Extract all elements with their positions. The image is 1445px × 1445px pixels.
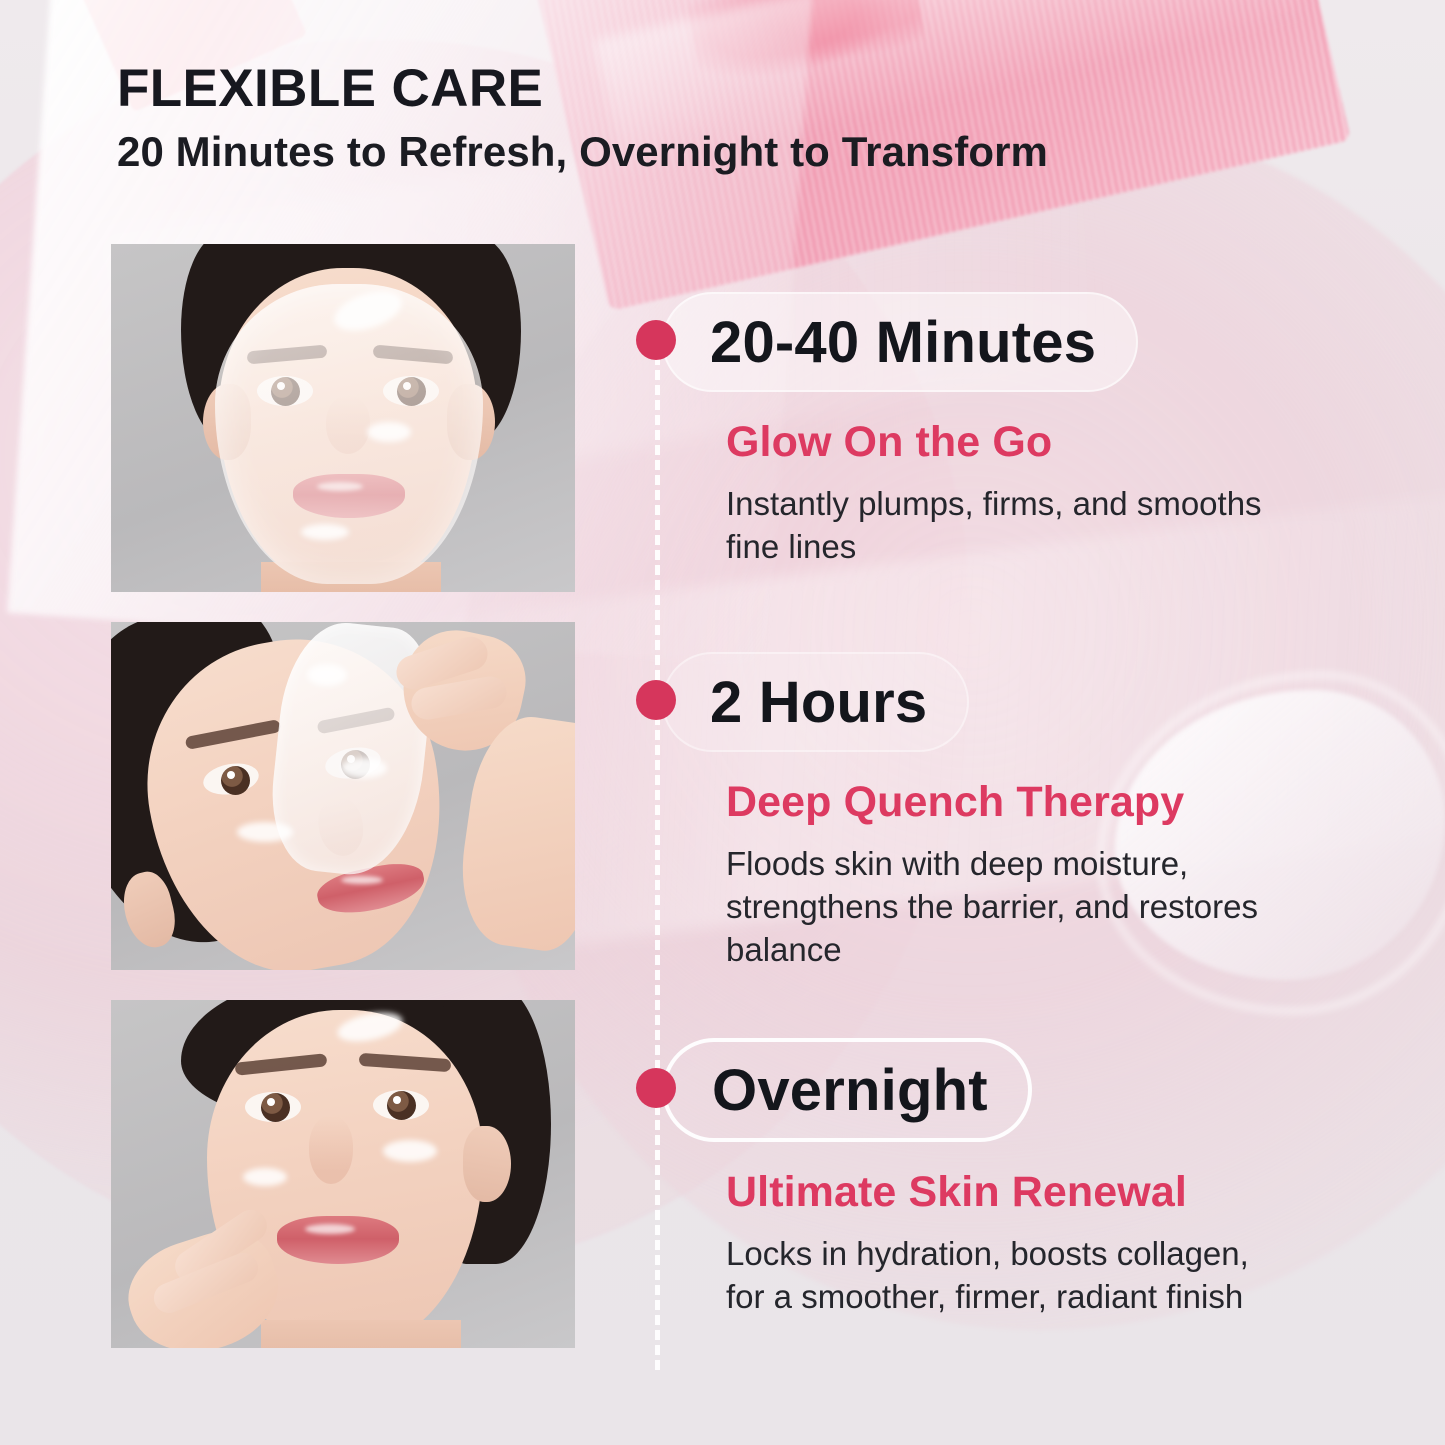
step-description-3: Locks in hydration, boosts collagen, for… <box>726 1233 1286 1319</box>
photo-column <box>111 244 575 1348</box>
photo-mask-applied <box>111 244 575 592</box>
header-block: FLEXIBLE CARE 20 Minutes to Refresh, Ove… <box>117 62 1347 174</box>
step-body-2: Deep Quench Therapy Floods skin with dee… <box>726 778 1286 972</box>
timeline-dot-icon <box>636 320 676 360</box>
step-heading-3: Ultimate Skin Renewal <box>726 1168 1286 1217</box>
step-body-1: Glow On the Go Instantly plumps, firms, … <box>726 418 1286 569</box>
photo-mask-removal <box>111 622 575 970</box>
infographic-page: FLEXIBLE CARE 20 Minutes to Refresh, Ove… <box>0 0 1445 1445</box>
page-title: FLEXIBLE CARE <box>117 62 1347 116</box>
duration-label-1: 20-40 Minutes <box>710 309 1096 376</box>
timeline-dashed-connector <box>655 340 660 1370</box>
step-description-2: Floods skin with deep moisture, strength… <box>726 843 1286 972</box>
step-body-3: Ultimate Skin Renewal Locks in hydration… <box>726 1168 1286 1319</box>
duration-label-2: 2 Hours <box>710 669 927 736</box>
photo-after-result <box>111 1000 575 1348</box>
timeline-dot-icon <box>636 1068 676 1108</box>
duration-label-3: Overnight <box>712 1057 988 1124</box>
step-description-1: Instantly plumps, firms, and smooths fin… <box>726 483 1286 569</box>
duration-pill-3: Overnight <box>662 1038 1032 1142</box>
duration-pill-2: 2 Hours <box>662 652 969 752</box>
step-heading-1: Glow On the Go <box>726 418 1286 467</box>
timeline-dot-icon <box>636 680 676 720</box>
page-subtitle: 20 Minutes to Refresh, Overnight to Tran… <box>117 129 1347 174</box>
duration-pill-1: 20-40 Minutes <box>662 292 1138 392</box>
step-heading-2: Deep Quench Therapy <box>726 778 1286 827</box>
